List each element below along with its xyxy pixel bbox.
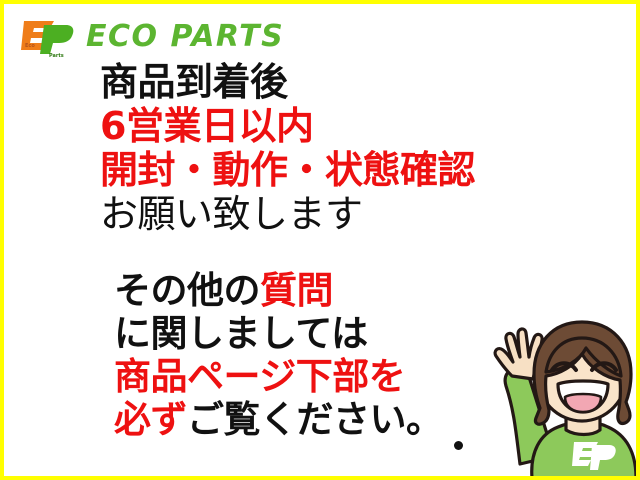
- message-line: 商品到着後: [100, 60, 570, 104]
- message-segment: ご覧ください。: [187, 398, 443, 441]
- brand-header: Eco Parts ECO PARTS: [20, 16, 284, 58]
- ep-monogram-logo-icon: Eco Parts: [20, 16, 76, 58]
- svg-text:Eco: Eco: [25, 43, 35, 49]
- message-segment-highlight: 質問: [260, 269, 333, 312]
- message-line: 6営業日以内: [100, 104, 570, 148]
- svg-text:Parts: Parts: [49, 53, 64, 58]
- message-segment-highlight: 必ず: [114, 398, 187, 441]
- message-segment: その他の: [114, 269, 260, 312]
- brand-wordmark: ECO PARTS: [86, 22, 284, 52]
- message-line: 開封・動作・状態確認: [100, 148, 570, 192]
- waving-woman-mascot-illustration: [454, 300, 640, 478]
- message-block-primary: 商品到着後 6営業日以内 開封・動作・状態確認 お願い致します: [100, 60, 570, 236]
- notice-banner: Eco Parts ECO PARTS 商品到着後 6営業日以内 開封・動作・状…: [0, 0, 640, 480]
- message-line: お願い致します: [100, 192, 570, 236]
